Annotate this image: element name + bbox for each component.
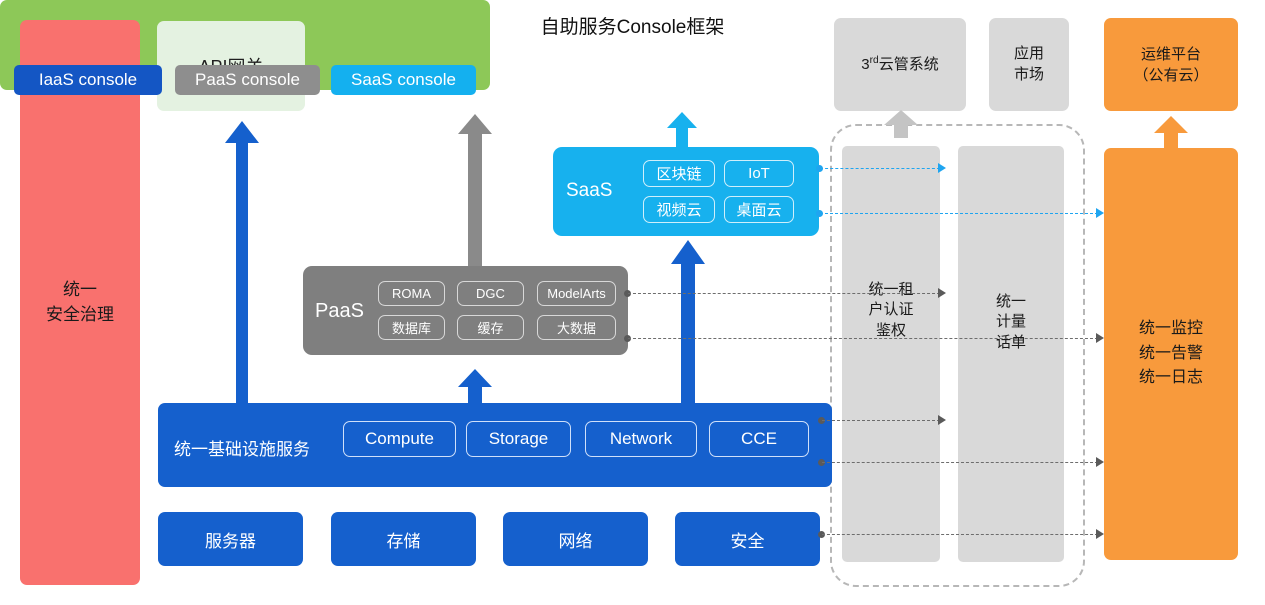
saas-tag-blockchain[interactable]: 区块链 <box>643 160 715 187</box>
paas-tag-dgc[interactable]: DGC <box>457 281 524 306</box>
hardware-security-label: 安全 <box>731 527 765 552</box>
infra-tag-network[interactable]: Network <box>585 421 697 457</box>
saas-tag-iot[interactable]: IoT <box>724 160 794 187</box>
cyan-up-arrow-icon <box>664 112 700 148</box>
infrastructure-label: 统一基础设施服务 <box>174 435 310 460</box>
paas-to-ops-arrowhead <box>1096 333 1104 343</box>
saas-to-auth-arrowhead <box>938 163 946 173</box>
saas-console-label: SaaS console <box>351 70 456 90</box>
infra-tag-storage[interactable]: Storage <box>466 421 571 457</box>
paas-to-auth-dashed-line <box>628 293 940 294</box>
paas-to-auth-arrowhead <box>938 288 946 298</box>
ops-body-line-2: 统一告警 <box>1139 342 1203 367</box>
infra-tag-cce[interactable]: CCE <box>709 421 809 457</box>
blue-up-arrow-icon-saas <box>668 240 708 404</box>
ops-header-line-1: 运维平台 <box>1133 44 1208 65</box>
ops-platform-header-box: 运维平台 （公有云） <box>1104 18 1238 111</box>
saas-tag-video-cloud[interactable]: 视频云 <box>643 196 715 223</box>
blue-up-arrow-icon-api <box>222 121 262 404</box>
iaas-console-chip[interactable]: IaaS console <box>14 65 162 95</box>
hardware-box-server[interactable]: 服务器 <box>158 512 303 566</box>
paas-console-label: PaaS console <box>195 70 300 90</box>
paas-label: PaaS <box>315 300 364 323</box>
ops-body-line-3: 统一日志 <box>1139 366 1203 391</box>
hardware-box-security[interactable]: 安全 <box>675 512 820 566</box>
saas-console-chip[interactable]: SaaS console <box>331 65 476 95</box>
infra-tag-compute[interactable]: Compute <box>343 421 456 457</box>
paas-tag-modelarts[interactable]: ModelArts <box>537 281 616 306</box>
ops-platform-body-box: 统一监控 统一告警 统一日志 <box>1104 148 1238 560</box>
infra-to-auth-arrowhead <box>938 415 946 425</box>
unified-tenant-auth-column <box>842 146 940 562</box>
gray-up-arrow-icon-3rd <box>880 110 922 138</box>
ops-header-line-2: （公有云） <box>1133 65 1208 86</box>
paas-tag-roma[interactable]: ROMA <box>378 281 445 306</box>
app-market-box: 应用 市场 <box>989 18 1069 111</box>
hardware-server-label: 服务器 <box>205 527 256 552</box>
governance-line-1: 统一 <box>46 278 114 303</box>
governance-line-2: 安全治理 <box>46 303 114 328</box>
paas-to-ops-dashed-line <box>628 338 1098 339</box>
app-market-line-2: 市场 <box>1014 65 1044 85</box>
saas-to-ops-dashed-line <box>820 213 1098 214</box>
third-party-cloud-management-label: 3rd云管系统 <box>861 54 938 75</box>
paas-tag-bigdata[interactable]: 大数据 <box>537 315 616 340</box>
hardware-box-network[interactable]: 网络 <box>503 512 648 566</box>
infra-to-auth-dashed-line <box>822 420 940 421</box>
infra-to-ops-arrowhead <box>1096 457 1104 467</box>
orange-up-arrow-icon <box>1150 116 1192 148</box>
hardware-to-ops-arrowhead <box>1096 529 1104 539</box>
ops-body-line-1: 统一监控 <box>1139 317 1203 342</box>
saas-to-ops-arrowhead <box>1096 208 1104 218</box>
blue-up-arrow-icon-paas <box>455 369 495 405</box>
gray-up-arrow-icon-paas <box>456 114 494 266</box>
console-framework-title: 自助服务Console框架 <box>0 12 1265 39</box>
hardware-network-label: 网络 <box>559 527 593 552</box>
unified-tenant-auth-label: 统一租 户认证 鉴权 <box>842 280 940 341</box>
hardware-box-storage[interactable]: 存储 <box>331 512 476 566</box>
saas-to-auth-dashed-line <box>820 168 940 169</box>
hardware-to-ops-dashed-line <box>822 534 1098 535</box>
paas-tag-database[interactable]: 数据库 <box>378 315 445 340</box>
saas-label: SaaS <box>566 180 612 202</box>
architecture-diagram: 统一 安全治理 API网关 自助服务Console框架 IaaS console… <box>0 0 1265 605</box>
infra-to-ops-dashed-line <box>822 462 1098 463</box>
unified-metering-column <box>958 146 1064 562</box>
saas-tag-desktop-cloud[interactable]: 桌面云 <box>724 196 794 223</box>
iaas-console-label: IaaS console <box>39 70 137 90</box>
paas-tag-cache[interactable]: 缓存 <box>457 315 524 340</box>
third-party-cloud-management-box: 3rd云管系统 <box>834 18 966 111</box>
paas-console-chip[interactable]: PaaS console <box>175 65 320 95</box>
unified-security-governance-panel: 统一 安全治理 <box>20 20 140 585</box>
app-market-line-1: 应用 <box>1014 44 1044 64</box>
hardware-storage-label: 存储 <box>387 527 421 552</box>
unified-metering-label: 统一 计量 话单 <box>958 292 1064 353</box>
